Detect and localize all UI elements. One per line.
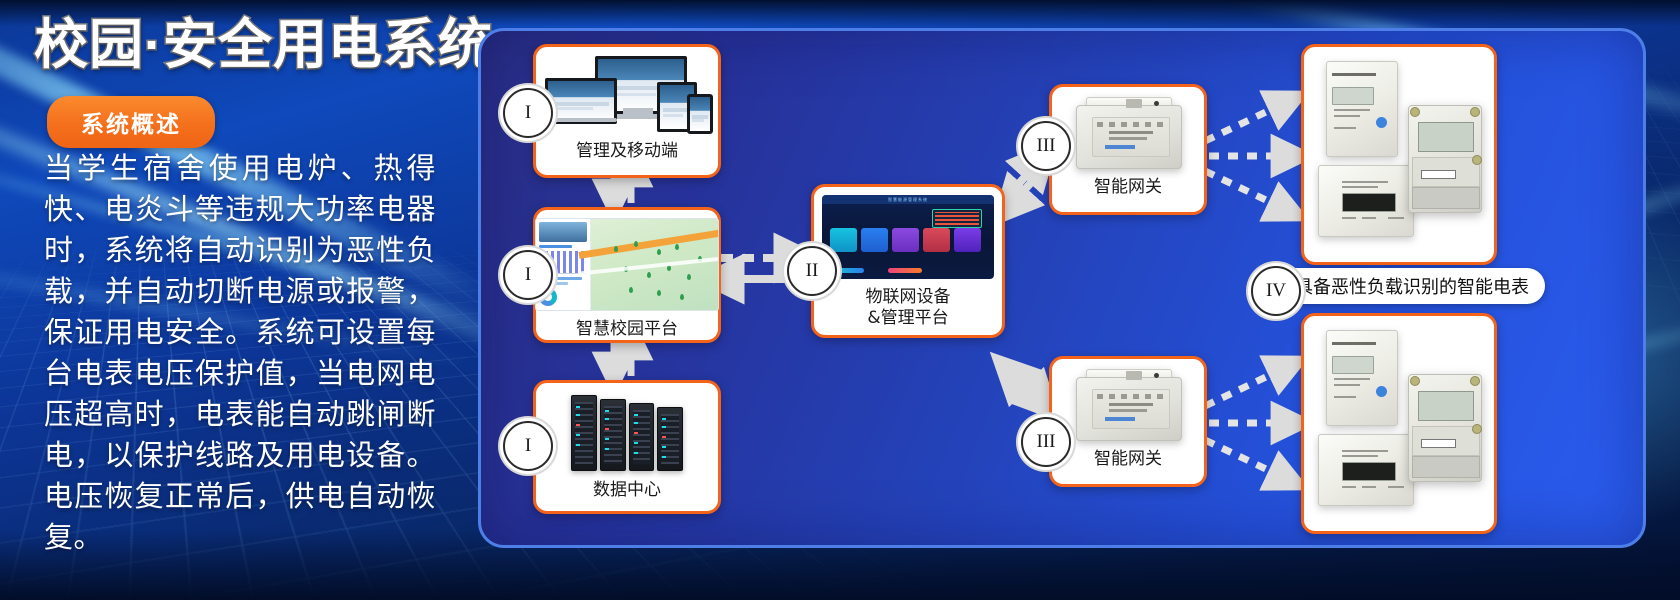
- node-gateway-top-label: 智能网关: [1094, 177, 1162, 198]
- callout-smart-meter: 具备恶性负载识别的智能电表: [1261, 268, 1545, 304]
- phone-icon: [687, 94, 713, 134]
- three-phase-din-meter: [1318, 165, 1414, 237]
- node-smart-campus[interactable]: 智慧校园平台: [533, 207, 721, 343]
- iot-footer-bars: [830, 268, 922, 273]
- iot-topbar: 智慧能源管理系统: [822, 195, 994, 204]
- smart-campus-screenshot: [535, 218, 719, 311]
- iot-platform-screenshot: 智慧能源管理系统: [822, 195, 994, 279]
- arrow-gateway-bottom-meters: [1205, 366, 1293, 480]
- node-admin-mobile[interactable]: 管理及移动端: [533, 44, 721, 178]
- numeral-badge-gateway-bottom: III: [1021, 417, 1071, 467]
- meters-panel-bottom[interactable]: [1301, 313, 1497, 534]
- node-iot-platform-label-2: &管理平台: [867, 308, 948, 329]
- three-phase-din-meter: [1318, 434, 1414, 506]
- single-phase-din-meter: [1326, 330, 1398, 426]
- section-badge: 系统概述: [47, 96, 215, 148]
- iot-led-display: [932, 209, 982, 228]
- iot-tiles: [830, 228, 981, 252]
- node-gateway-bottom-label: 智能网关: [1094, 449, 1162, 470]
- arrow-iot-gateway-bottom: [1005, 363, 1047, 409]
- campus-map: [591, 219, 718, 310]
- page-title: 校园·安全用电系统: [34, 18, 464, 72]
- diagram-panel: 管理及移动端 I: [478, 28, 1646, 548]
- numeral-badge-callout: IV: [1251, 266, 1301, 316]
- campus-map-pins: [591, 219, 718, 310]
- node-data-center-label: 数据中心: [593, 480, 661, 501]
- meters-panel-top[interactable]: [1301, 44, 1497, 265]
- node-admin-mobile-label: 管理及移动端: [576, 141, 678, 162]
- node-iot-platform[interactable]: 智慧能源管理系统 物联网设备 &管理平台: [811, 184, 1005, 338]
- three-phase-panel-meter: [1408, 374, 1482, 482]
- campus-hero-image: [539, 222, 587, 242]
- campus-bar: [539, 245, 572, 248]
- numeral-badge-data-center: I: [503, 421, 553, 471]
- admin-mobile-illustration: [545, 56, 709, 134]
- smart-gateway-device-icon: [1070, 95, 1186, 173]
- callout-label: 具备恶性负载识别的智能电表: [1295, 273, 1529, 299]
- left-column: 校园·安全用电系统 系统概述 当学生宿舍使用电炉、热得快、电炎斗等违规大功率电器…: [0, 0, 470, 600]
- numeral-badge-iot-platform: II: [787, 246, 837, 296]
- node-data-center[interactable]: 数据中心: [533, 380, 721, 514]
- laptop-base: [541, 118, 617, 122]
- overview-paragraph: 当学生宿舍使用电炉、热得快、电炎斗等违规大功率电器时，系统将自动识别为恶性负载，…: [44, 148, 436, 558]
- numeral-badge-admin-mobile: I: [503, 88, 553, 138]
- node-iot-platform-label-1: 物联网设备: [866, 287, 951, 308]
- three-phase-panel-meter: [1408, 105, 1482, 213]
- node-gateway-top[interactable]: 智能网关: [1049, 84, 1207, 215]
- poster-canvas: 校园·安全用电系统 系统概述 当学生宿舍使用电炉、热得快、电炎斗等违规大功率电器…: [0, 0, 1680, 600]
- node-gateway-bottom[interactable]: 智能网关: [1049, 356, 1207, 487]
- numeral-badge-gateway-top: III: [1021, 121, 1071, 171]
- arrow-gateway-top-meters: [1205, 101, 1293, 211]
- single-phase-din-meter: [1326, 61, 1398, 157]
- smart-gateway-device-icon: [1070, 367, 1186, 445]
- data-center-rack-icon: [571, 393, 683, 471]
- numeral-badge-smart-campus: I: [503, 250, 553, 300]
- node-smart-campus-label: 智慧校园平台: [576, 319, 678, 340]
